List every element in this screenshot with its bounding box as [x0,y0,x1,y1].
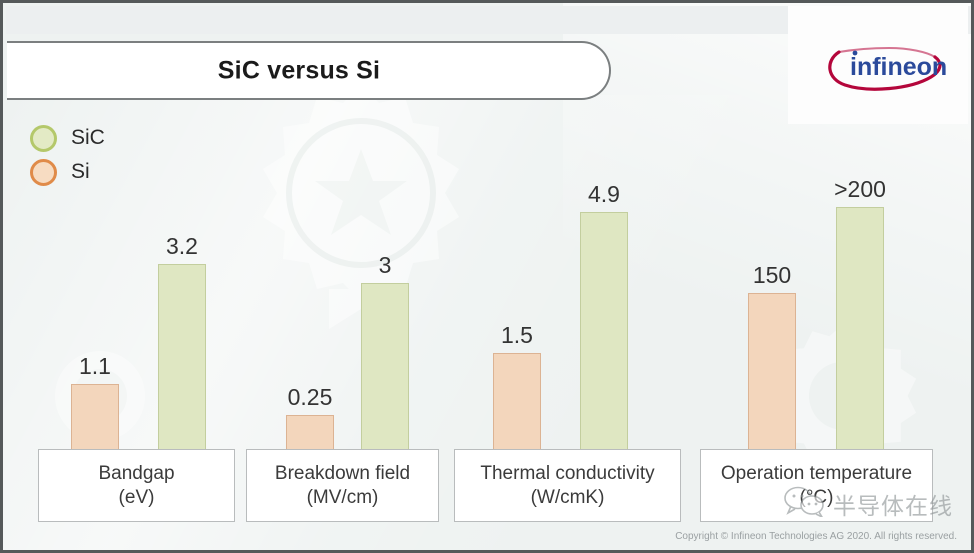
bar-sic-2 [580,212,628,458]
slide-canvas: infineon SiC versus Si SiC Si 1.13.20.25… [0,0,974,553]
svg-text:infineon: infineon [850,53,947,81]
category-unit: (MV/cm) [307,486,379,509]
bar-value-sic-0: 3.2 [132,233,232,260]
category-unit: (W/cmK) [531,486,605,509]
category-name: Thermal conductivity [480,462,654,485]
copyright-text: Copyright © Infineon Technologies AG 202… [675,531,957,542]
category-box-2: Thermal conductivity(W/cmK) [454,449,681,522]
category-name: Operation temperature [721,462,912,485]
category-unit: (eV) [119,486,155,509]
bar-si-3 [748,293,796,458]
bar-sic-3 [836,207,884,458]
bar-value-si-0: 1.1 [45,353,145,380]
category-box-0: Bandgap(eV) [38,449,235,522]
category-name: Breakdown field [275,462,410,485]
infineon-logo: infineon [823,41,949,93]
category-box-1: Breakdown field(MV/cm) [246,449,439,522]
bar-value-si-1: 0.25 [260,384,360,411]
bar-si-2 [493,353,541,458]
bar-sic-1 [361,283,409,458]
bar-si-0 [71,384,119,458]
category-box-3: Operation temperature(°C) [700,449,933,522]
bar-value-si-3: 150 [722,262,822,289]
bar-value-sic-3: >200 [810,176,910,203]
page-title: SiC versus Si [7,56,609,85]
title-box: SiC versus Si [7,41,611,100]
bar-sic-0 [158,264,206,458]
chart-plot-area: 1.13.20.2531.54.9150>200 [3,113,974,458]
bar-value-sic-2: 4.9 [554,181,654,208]
category-name: Bandgap [98,462,174,485]
category-unit: (°C) [800,486,834,509]
bar-value-si-2: 1.5 [467,322,567,349]
bar-value-sic-1: 3 [335,252,435,279]
